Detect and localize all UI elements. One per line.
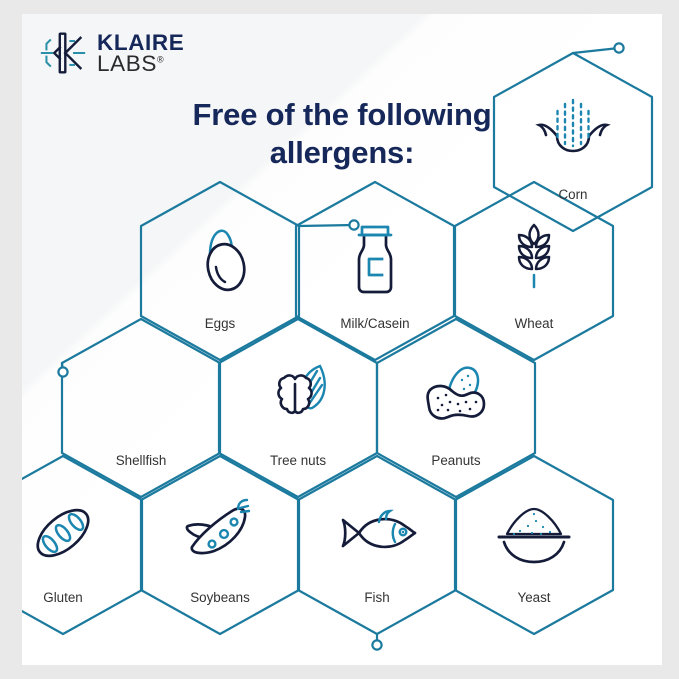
- allergen-label-eggs: Eggs: [205, 316, 236, 331]
- peanuts-icon: [428, 368, 484, 419]
- allergen-icons: [22, 14, 662, 665]
- corn-icon: [539, 100, 607, 151]
- gluten-icon: [30, 501, 97, 564]
- allergen-label-peanuts: Peanuts: [431, 453, 480, 468]
- allergen-label-corn: Corn: [558, 187, 587, 202]
- fish-icon: [343, 511, 415, 547]
- allergen-label-milk-casein: Milk/Casein: [340, 316, 409, 331]
- tree-nuts-icon: [278, 366, 324, 413]
- eggs-icon: [204, 231, 249, 294]
- yeast-icon: [499, 509, 569, 562]
- allergen-label-wheat: Wheat: [515, 316, 554, 331]
- wheat-icon: [519, 225, 549, 287]
- allergen-label-yeast: Yeast: [517, 590, 550, 605]
- allergen-label-soybeans: Soybeans: [190, 590, 250, 605]
- allergen-label-tree-nuts: Tree nuts: [270, 453, 326, 468]
- soybeans-icon: [187, 500, 249, 553]
- screenshot-root: KLAIRE LABS® Free of the following aller…: [0, 0, 679, 679]
- allergen-label-gluten: Gluten: [43, 590, 82, 605]
- allergen-label-shellfish: Shellfish: [116, 453, 167, 468]
- milk-bottle-icon: [359, 227, 391, 292]
- allergen-info-card: KLAIRE LABS® Free of the following aller…: [22, 14, 662, 665]
- allergen-label-fish: Fish: [364, 590, 389, 605]
